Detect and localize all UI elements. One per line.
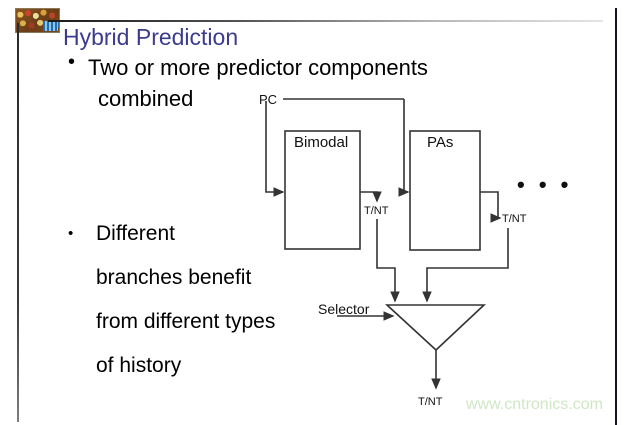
pas-result-to-mux-line [427,228,508,301]
pc-to-pas-line [404,99,408,192]
hybrid-predictor-diagram [0,0,643,425]
bimodal-output-line [360,192,377,201]
diagram-label-pas: PAs [427,134,453,151]
slide-canvas: Hybrid Prediction • Two or more predicto… [0,0,643,425]
diagram-label-tnt-right: T/NT [502,213,526,225]
selector-mux-shape [387,305,484,350]
pas-output-line [480,192,500,218]
watermark-text: www.cntronics.com [466,396,603,414]
diagram-label-pc: PC [259,92,277,107]
diagram-label-bimodal: Bimodal [294,134,348,151]
diagram-label-tnt-output: T/NT [418,396,442,408]
diagram-label-tnt-middle: T/NT [364,205,388,217]
bimodal-result-to-mux-line [377,219,395,301]
diagram-label-selector: Selector [318,301,369,317]
diagram-ellipsis-icon: • • • [517,172,572,198]
pc-to-bimodal-line [266,101,283,192]
